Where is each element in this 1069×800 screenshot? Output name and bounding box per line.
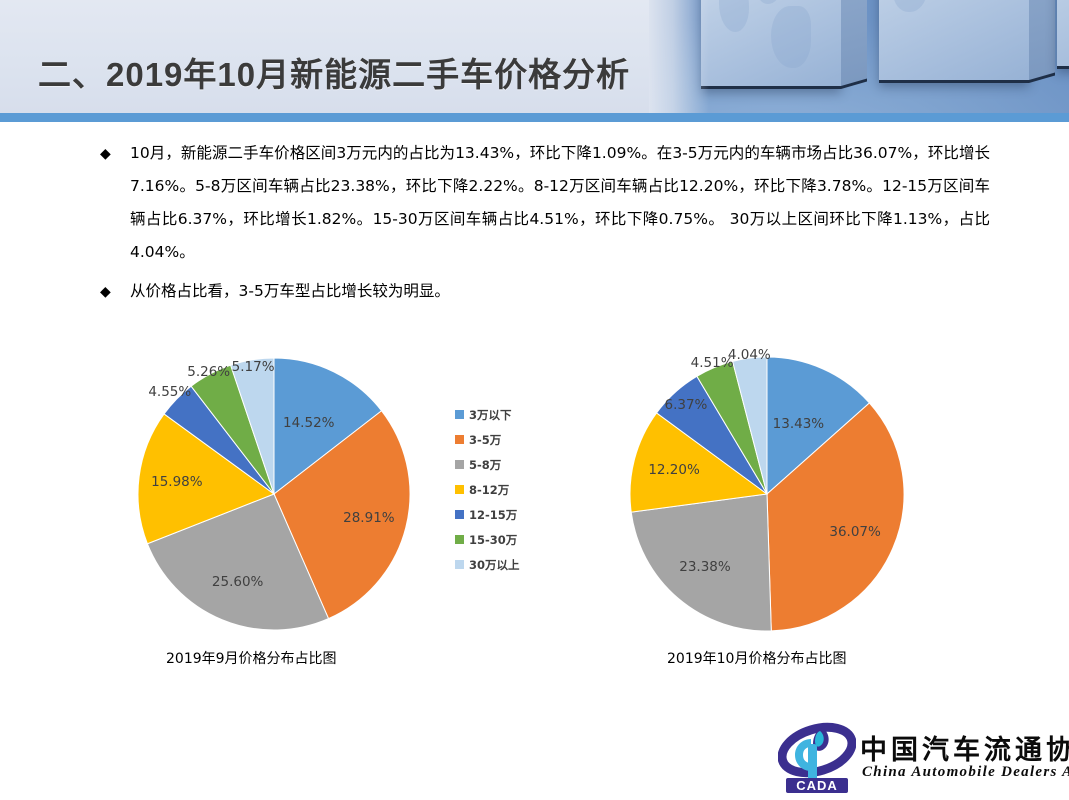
legend-color-swatch [455,560,464,569]
svg-text:CADA: CADA [796,778,838,793]
chart-caption-september: 2019年9月价格分布占比图 [166,648,337,668]
legend-item[interactable]: 12-15万 [455,502,520,527]
legend-label: 3万以下 [469,407,512,423]
chart-legend: 3万以下3-5万5-8万8-12万12-15万15-30万30万以上 [455,402,520,577]
header-art-fade [649,0,709,113]
legend-item[interactable]: 15-30万 [455,527,520,552]
pie-graphic-september [137,352,417,632]
page-title: 二、2019年10月新能源二手车价格分析 [38,48,630,96]
decorative-cube [701,0,841,86]
legend-color-swatch [455,535,464,544]
legend-color-swatch [455,510,464,519]
legend-label: 15-30万 [469,532,517,548]
logo-name-english: China Automobile Dealers Association [862,764,1069,781]
pie-slice[interactable] [631,494,771,631]
legend-label: 30万以上 [469,557,520,573]
diamond-bullet-icon: ◆ [100,137,130,170]
header-decorative-cubes-graphic [649,0,1069,113]
legend-item[interactable]: 8-12万 [455,477,520,502]
body-text-block: ◆ 10月，新能源二手车价格区间3万元内的占比为13.43%，环比下降1.09%… [100,137,990,314]
legend-label: 5-8万 [469,457,501,473]
header-accent-rule [0,113,1069,122]
diamond-bullet-icon: ◆ [100,275,130,308]
legend-item[interactable]: 30万以上 [455,552,520,577]
pie-chart-october: 13.43%36.07%23.38%12.20%6.37%4.51%4.04% [630,352,920,642]
logo-name-chinese: 中国汽车流通协会 [860,728,1069,767]
legend-color-swatch [455,485,464,494]
pie-chart-september: 14.52%28.91%25.60%15.98%4.55%5.26%5.17% … [137,352,557,642]
pie-svg-september [137,352,417,632]
legend-label: 8-12万 [469,482,509,498]
chart-caption-october: 2019年10月价格分布占比图 [667,648,846,668]
cada-logo: CADA 中国汽车流通协会 China Automobile Dealers A… [778,722,1056,794]
legend-item[interactable]: 3-5万 [455,427,520,452]
legend-label: 12-15万 [469,507,517,523]
bullet-paragraph: ◆ 10月，新能源二手车价格区间3万元内的占比为13.43%，环比下降1.09%… [100,137,990,269]
bullet-paragraph: ◆ 从价格占比看，3-5万车型占比增长较为明显。 [100,275,990,308]
pie-graphic-october [630,352,910,632]
legend-color-swatch [455,410,464,419]
legend-item[interactable]: 3万以下 [455,402,520,427]
decorative-cube [879,0,1029,80]
paragraph-text: 10月，新能源二手车价格区间3万元内的占比为13.43%，环比下降1.09%。在… [130,137,990,269]
paragraph-text: 从价格占比看，3-5万车型占比增长较为明显。 [130,275,990,308]
cada-logo-mark-icon: CADA [778,722,856,794]
legend-label: 3-5万 [469,432,501,448]
pie-svg-october [630,352,910,632]
slide-header: 二、2019年10月新能源二手车价格分析 [0,0,1069,113]
legend-color-swatch [455,460,464,469]
decorative-cube [1057,0,1069,66]
legend-item[interactable]: 5-8万 [455,452,520,477]
legend-color-swatch [455,435,464,444]
